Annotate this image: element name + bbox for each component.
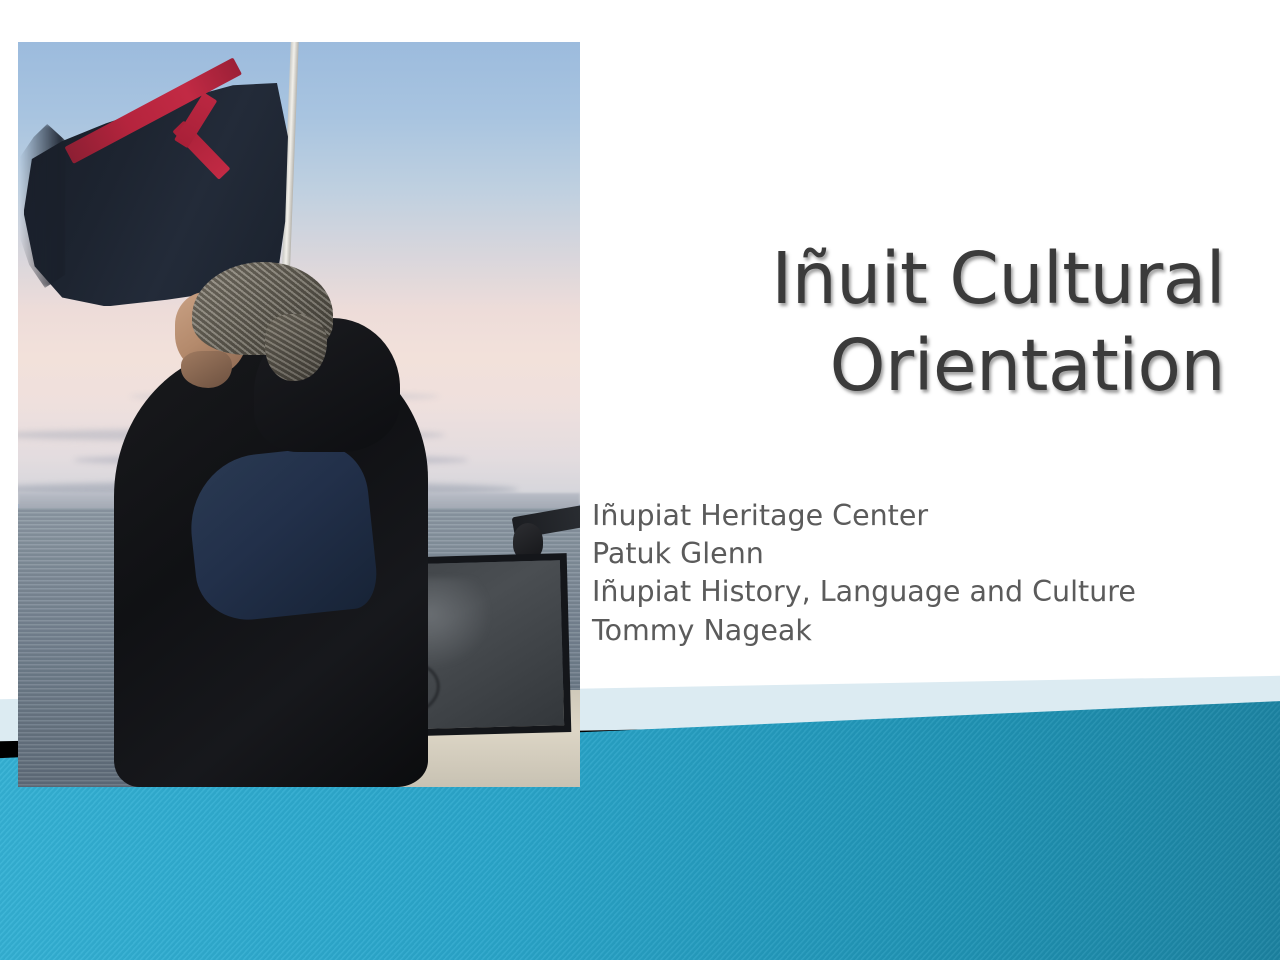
title-slide-photo (18, 42, 580, 787)
slide-subtitle: Iñupiat Heritage Center Patuk Glenn Iñup… (592, 497, 1242, 650)
presentation-slide: Iñuit Cultural Orientation Iñupiat Herit… (0, 0, 1280, 960)
slide-title: Iñuit Cultural Orientation (600, 236, 1225, 409)
